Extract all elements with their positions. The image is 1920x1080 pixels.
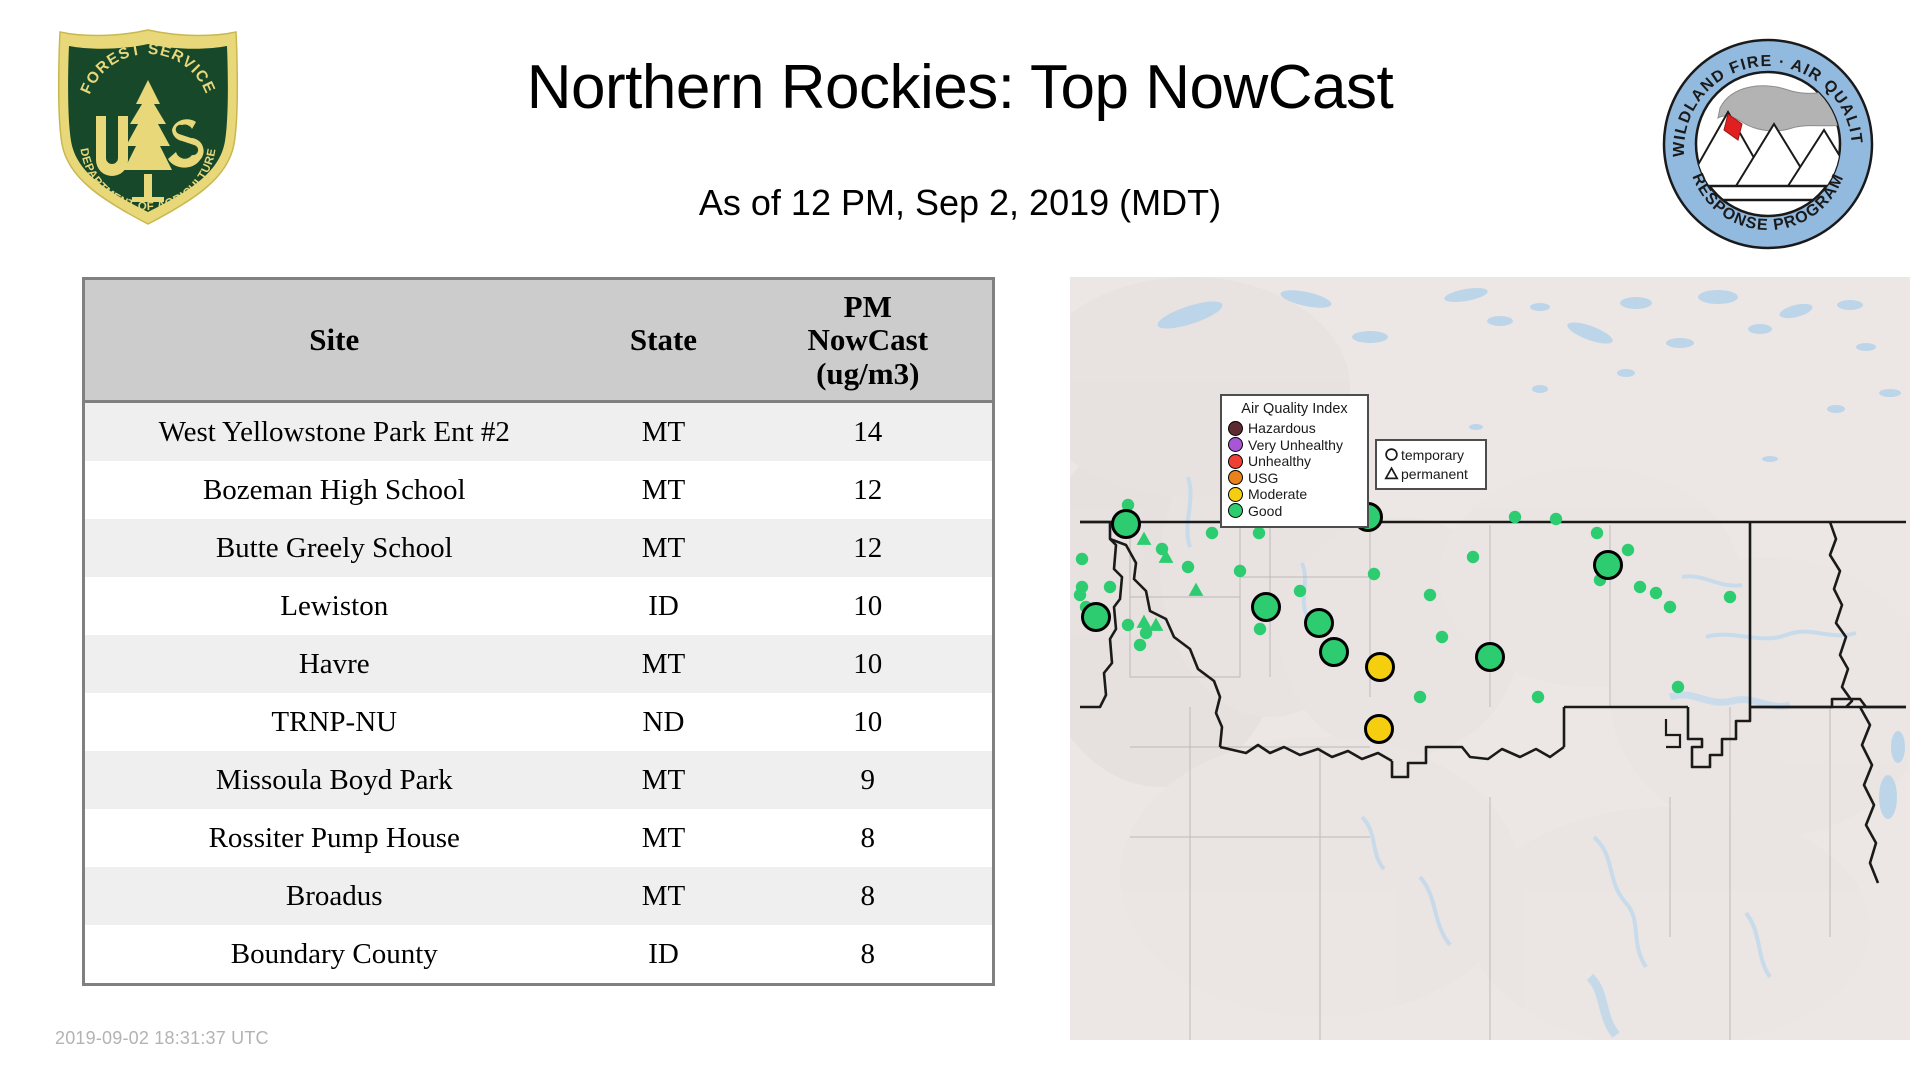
site-cell: Bozeman High School (84, 461, 584, 519)
value-cell: 9 (744, 751, 994, 809)
table-row: HavreMT10 (84, 635, 994, 693)
table-row: Butte Greely SchoolMT12 (84, 519, 994, 577)
state-cell: ND (584, 693, 744, 751)
monitor-marker-small[interactable] (1182, 561, 1194, 573)
marker-legend-row-temporary: temporary (1382, 445, 1480, 464)
aqi-legend-title: Air Quality Index (1228, 401, 1361, 417)
monitor-marker-small[interactable] (1664, 601, 1676, 613)
monitor-marker-small[interactable] (1253, 527, 1265, 539)
monitor-marker-small[interactable] (1591, 527, 1603, 539)
marker-type-legend: temporary permanent (1375, 439, 1487, 490)
monitor-marker-small[interactable] (1467, 551, 1479, 563)
pm-header-line2: NowCast (807, 322, 928, 357)
site-cell: Lewiston (84, 577, 584, 635)
top-site-marker[interactable] (1321, 639, 1348, 666)
site-cell: Rossiter Pump House (84, 809, 584, 867)
value-cell: 12 (744, 519, 994, 577)
table-row: TRNP-NUND10 (84, 693, 994, 751)
table-row: West Yellowstone Park Ent #2MT14 (84, 402, 994, 462)
monitor-marker-small[interactable] (1074, 589, 1086, 601)
value-cell: 10 (744, 635, 994, 693)
state-cell: ID (584, 577, 744, 635)
monitor-marker-small[interactable] (1368, 568, 1380, 580)
top-site-marker[interactable] (1306, 610, 1333, 637)
aqi-swatch-icon (1228, 470, 1243, 485)
aqi-legend-item: Good (1228, 503, 1361, 520)
monitor-marker-small[interactable] (1424, 589, 1436, 601)
monitor-marker-small[interactable] (1532, 691, 1544, 703)
nowcast-table-container: Site State PM NowCast (ug/m3) West Yello… (82, 277, 992, 986)
table-body: West Yellowstone Park Ent #2MT14Bozeman … (84, 402, 994, 985)
site-cell: Broadus (84, 867, 584, 925)
aqi-legend: Air Quality Index HazardousVery Unhealth… (1220, 394, 1369, 528)
wfaqrp-seal-logo: WILDLAND FIRE · AIR QUALITY RESPONSE PRO… (1662, 38, 1874, 250)
top-site-marker[interactable] (1477, 644, 1504, 671)
state-cell: MT (584, 402, 744, 462)
monitor-marker-small[interactable] (1254, 623, 1266, 635)
site-cell: Boundary County (84, 925, 584, 985)
pm-header-line3: (ug/m3) (816, 356, 919, 391)
value-cell: 8 (744, 809, 994, 867)
value-cell: 10 (744, 693, 994, 751)
aqi-legend-item: Hazardous (1228, 420, 1361, 437)
monitor-marker-small[interactable] (1134, 639, 1146, 651)
permanent-label: permanent (1401, 467, 1468, 481)
page-title: Northern Rockies: Top NowCast (300, 52, 1620, 123)
value-cell: 10 (744, 577, 994, 635)
value-cell: 8 (744, 867, 994, 925)
marker-legend-row-permanent: permanent (1382, 464, 1480, 483)
temporary-label: temporary (1401, 448, 1464, 462)
monitor-marker-small[interactable] (1550, 513, 1562, 525)
column-header-pm-nowcast: PM NowCast (ug/m3) (744, 279, 994, 402)
site-cell: Missoula Boyd Park (84, 751, 584, 809)
state-cell: MT (584, 751, 744, 809)
table-row: Bozeman High SchoolMT12 (84, 461, 994, 519)
state-cell: MT (584, 809, 744, 867)
top-site-marker[interactable] (1083, 604, 1110, 631)
aqi-swatch-icon (1228, 503, 1243, 518)
state-cell: MT (584, 635, 744, 693)
aqi-legend-label: Unhealthy (1248, 454, 1311, 468)
pm-header-line1: PM (844, 289, 892, 324)
column-header-site: Site (84, 279, 584, 402)
aqi-legend-label: USG (1248, 471, 1278, 485)
site-cell: West Yellowstone Park Ent #2 (84, 402, 584, 462)
state-cell: MT (584, 461, 744, 519)
monitor-marker-small[interactable] (1206, 527, 1218, 539)
monitor-marker-small[interactable] (1234, 565, 1246, 577)
monitor-marker-small[interactable] (1650, 587, 1662, 599)
top-site-marker[interactable] (1113, 511, 1140, 538)
aqi-swatch-icon (1228, 454, 1243, 469)
aqi-legend-label: Hazardous (1248, 421, 1316, 435)
table-row: Missoula Boyd ParkMT9 (84, 751, 994, 809)
nowcast-table: Site State PM NowCast (ug/m3) West Yello… (82, 277, 995, 986)
top-site-marker[interactable] (1595, 552, 1622, 579)
table-header-row: Site State PM NowCast (ug/m3) (84, 279, 994, 402)
aqi-swatch-icon (1228, 487, 1243, 502)
aqi-legend-label: Good (1248, 504, 1282, 518)
monitor-marker-small[interactable] (1509, 511, 1521, 523)
table-row: LewistonID10 (84, 577, 994, 635)
generated-timestamp: 2019-09-02 18:31:37 UTC (55, 1028, 269, 1049)
monitor-marker-small[interactable] (1122, 619, 1134, 631)
aqi-legend-item: Very Unhealthy (1228, 437, 1361, 454)
temporary-circle-icon (1382, 447, 1401, 462)
aqi-legend-item: Moderate (1228, 486, 1361, 503)
monitor-marker-small[interactable] (1622, 544, 1634, 556)
aqi-legend-item: Unhealthy (1228, 453, 1361, 470)
table-row: BroadusMT8 (84, 867, 994, 925)
column-header-state: State (584, 279, 744, 402)
table-row: Boundary CountyID8 (84, 925, 994, 985)
state-cell: MT (584, 867, 744, 925)
aqi-legend-label: Moderate (1248, 487, 1307, 501)
monitor-marker-small[interactable] (1724, 591, 1736, 603)
monitor-marker-small[interactable] (1634, 581, 1646, 593)
top-site-marker[interactable] (1367, 654, 1394, 681)
monitor-marker-small[interactable] (1076, 553, 1088, 565)
value-cell: 8 (744, 925, 994, 985)
aqi-legend-item: USG (1228, 470, 1361, 487)
usfs-shield-logo: FOREST SERVICE DEPARTMENT OF AGRICULTURE (48, 24, 248, 229)
value-cell: 12 (744, 461, 994, 519)
slide-root: FOREST SERVICE DEPARTMENT OF AGRICULTURE… (0, 0, 1920, 1080)
aqi-swatch-icon (1228, 437, 1243, 452)
top-site-marker[interactable] (1366, 716, 1393, 743)
air-quality-map[interactable]: Air Quality Index HazardousVery Unhealth… (1070, 277, 1910, 1040)
value-cell: 14 (744, 402, 994, 462)
site-cell: TRNP-NU (84, 693, 584, 751)
aqi-swatch-icon (1228, 421, 1243, 436)
permanent-triangle-icon (1382, 466, 1401, 481)
table-row: Rossiter Pump HouseMT8 (84, 809, 994, 867)
site-cell: Havre (84, 635, 584, 693)
top-site-marker[interactable] (1253, 594, 1280, 621)
state-cell: ID (584, 925, 744, 985)
monitor-marker-small[interactable] (1436, 631, 1448, 643)
aqi-legend-label: Very Unhealthy (1248, 438, 1343, 452)
page-subtitle: As of 12 PM, Sep 2, 2019 (MDT) (300, 182, 1620, 224)
site-cell: Butte Greely School (84, 519, 584, 577)
monitor-marker-small[interactable] (1414, 691, 1426, 703)
aqi-legend-items: HazardousVery UnhealthyUnhealthyUSGModer… (1228, 420, 1361, 519)
state-cell: MT (584, 519, 744, 577)
monitor-marker-small[interactable] (1294, 585, 1306, 597)
monitor-marker-small[interactable] (1104, 581, 1116, 593)
monitor-marker-small[interactable] (1672, 681, 1684, 693)
